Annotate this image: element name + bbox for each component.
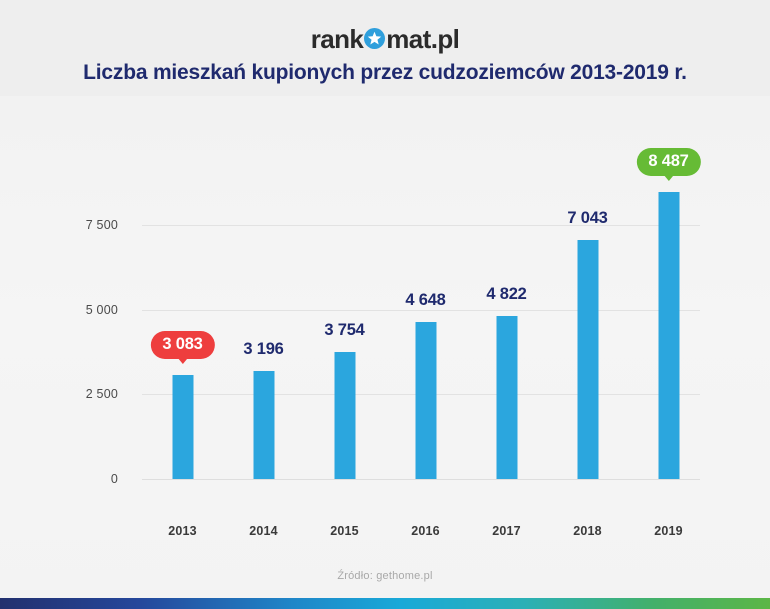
page-title: Liczba mieszkań kupionych przez cudzozie… <box>0 61 770 85</box>
x-axis-tick-label-2015: 2015 <box>330 524 359 538</box>
y-axis: 02 5005 0007 500 <box>18 100 118 520</box>
star-circle-icon <box>364 28 385 49</box>
header: rankmat.pl Liczba mieszkań kupionych prz… <box>0 0 770 100</box>
bar-value-label-2019: 8 487 <box>636 148 700 176</box>
x-axis-tick-label-2014: 2014 <box>249 524 278 538</box>
x-axis-tick-label-2018: 2018 <box>573 524 602 538</box>
bar-value-label-2014: 3 196 <box>243 340 283 359</box>
bar-2014[interactable] <box>253 371 274 479</box>
bar-2019[interactable] <box>658 192 679 479</box>
y-axis-tick-label: 0 <box>38 472 118 486</box>
bar-value-label-2018: 7 043 <box>567 209 607 228</box>
bar-series: 3 08320133 19620143 75420154 64820164 82… <box>142 100 700 520</box>
bar-value-label-2017: 4 822 <box>486 285 526 304</box>
y-axis-tick-label: 2 500 <box>38 387 118 401</box>
x-axis-tick-label-2017: 2017 <box>492 524 521 538</box>
bar-2018[interactable] <box>577 240 598 479</box>
y-axis-tick-label: 5 000 <box>38 303 118 317</box>
x-axis-tick-label-2013: 2013 <box>168 524 197 538</box>
bar-2013[interactable] <box>172 375 193 479</box>
infographic-canvas: rankmat.pl Liczba mieszkań kupionych prz… <box>0 0 770 609</box>
source-caption: Źródło: gethome.pl <box>0 570 770 582</box>
chart-plot-area: 02 5005 0007 500 3 08320133 19620143 754… <box>0 100 770 520</box>
bar-value-label-2013: 3 083 <box>150 331 214 359</box>
bar-value-label-2016: 4 648 <box>405 291 445 310</box>
logo-text-before: rank <box>311 24 364 54</box>
bar-2015[interactable] <box>334 352 355 479</box>
bar-group-2016[interactable]: 4 6482016 <box>385 139 466 479</box>
logo-text-after: mat.pl <box>386 24 459 54</box>
bar-2016[interactable] <box>415 322 436 479</box>
y-axis-tick-label: 7 500 <box>38 218 118 232</box>
x-axis-tick-label-2019: 2019 <box>654 524 683 538</box>
brand-gradient-bar <box>0 598 770 609</box>
brand-logo: rankmat.pl <box>0 22 770 54</box>
bar-value-label-2015: 3 754 <box>324 321 364 340</box>
bar-group-2014[interactable]: 3 1962014 <box>223 139 304 479</box>
x-axis-tick-label-2016: 2016 <box>411 524 440 538</box>
bar-group-2018[interactable]: 7 0432018 <box>547 139 628 479</box>
bar-group-2013[interactable]: 3 0832013 <box>142 139 223 479</box>
bar-group-2017[interactable]: 4 8222017 <box>466 139 547 479</box>
bar-2017[interactable] <box>496 316 517 479</box>
bar-group-2015[interactable]: 3 7542015 <box>304 139 385 479</box>
bar-group-2019[interactable]: 8 4872019 <box>628 139 709 479</box>
